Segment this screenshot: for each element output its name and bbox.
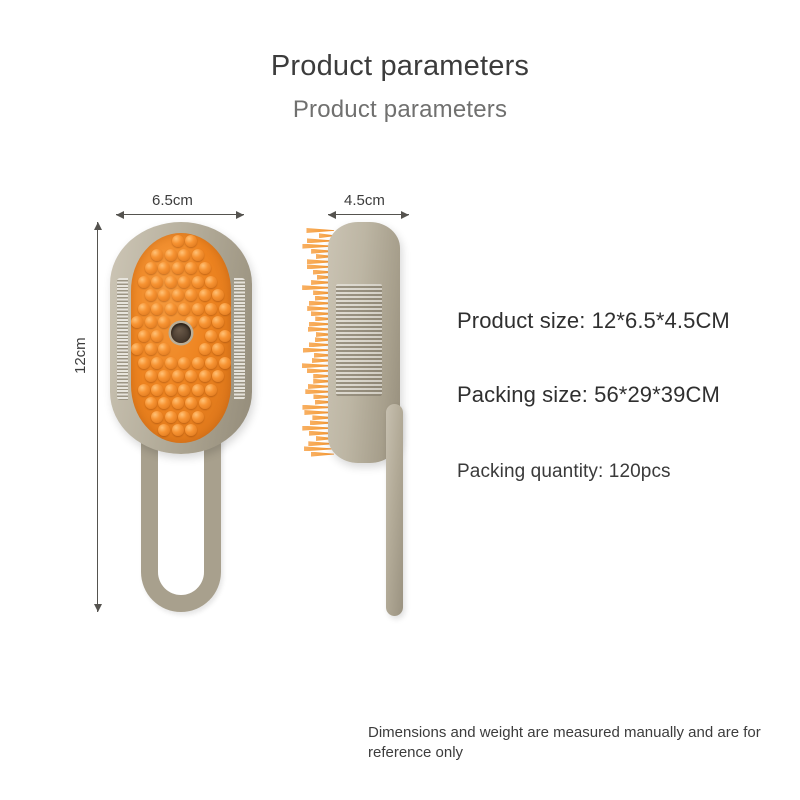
page-subtitle: Product parameters — [0, 96, 800, 124]
dimension-label-height: 12cm — [72, 337, 89, 374]
dimension-arrow-height — [97, 222, 98, 612]
bristle-nub — [138, 276, 150, 288]
bristle-nub — [158, 316, 170, 328]
bristle-nub — [192, 411, 204, 423]
footer-disclaimer: Dimensions and weight are measured manua… — [368, 723, 768, 764]
front-brush-body — [110, 222, 252, 454]
bristle-nub — [138, 330, 150, 342]
side-comb-ridges — [336, 284, 382, 396]
product-front-view — [110, 222, 252, 612]
spec-packing-quantity: Packing quantity: 120pcs — [457, 461, 671, 483]
bristle-nub — [158, 343, 170, 355]
bristle-nub — [131, 316, 143, 328]
spec-packing-size: Packing size: 56*29*39CM — [457, 382, 720, 408]
bristle-nub — [199, 289, 211, 301]
bristle-nub — [205, 330, 217, 342]
bristle-nub — [165, 249, 177, 261]
bristle-nub — [185, 370, 197, 382]
bristle-nub — [185, 262, 197, 274]
bristle-nub — [192, 357, 204, 369]
bristle-nub — [165, 276, 177, 288]
bristle-nub — [151, 384, 163, 396]
bristle-nub — [185, 289, 197, 301]
bristle-nub — [219, 330, 231, 342]
bristle-nub — [145, 397, 157, 409]
bristle-nub — [145, 343, 157, 355]
dimension-arrow-width-front — [116, 214, 244, 215]
bristle-nub — [172, 289, 184, 301]
bristle-nub — [192, 303, 204, 315]
bristle-nub — [165, 411, 177, 423]
bristle-nub — [212, 289, 224, 301]
bristle-nub — [151, 276, 163, 288]
bristle-nub — [178, 249, 190, 261]
bristle-nub — [212, 343, 224, 355]
bristle-nub — [205, 384, 217, 396]
bristle-nub — [138, 303, 150, 315]
bristle-nub — [158, 397, 170, 409]
bristle-nub — [151, 411, 163, 423]
bristle-nub — [165, 384, 177, 396]
bristle-nub — [151, 357, 163, 369]
bristle-nub — [151, 249, 163, 261]
side-handle-bar — [386, 404, 403, 616]
bristle-nub — [151, 330, 163, 342]
bristle-nub — [178, 303, 190, 315]
bristle-nub — [199, 343, 211, 355]
bristle-nub — [212, 316, 224, 328]
bristle-nub — [172, 424, 184, 436]
bristle-nub — [205, 303, 217, 315]
bristle-nub — [178, 411, 190, 423]
bristle-nub — [172, 262, 184, 274]
bristle-nub — [178, 357, 190, 369]
page-title: Product parameters — [0, 50, 800, 83]
bristle-nub — [192, 249, 204, 261]
product-parameters-page: Product parameters Product parameters 6.… — [0, 0, 800, 800]
dimension-label-width-front: 6.5cm — [152, 192, 193, 209]
bristle-nub — [185, 397, 197, 409]
bristle-nub — [172, 397, 184, 409]
bristle — [306, 228, 334, 233]
bristle-nub — [138, 384, 150, 396]
bristle-nub — [172, 370, 184, 382]
bristle-nub — [199, 397, 211, 409]
bristle-nub — [205, 276, 217, 288]
bristle-nub — [138, 357, 150, 369]
bristle-nub — [178, 276, 190, 288]
spec-product-size: Product size: 12*6.5*4.5CM — [457, 308, 730, 334]
bristle-nub — [158, 370, 170, 382]
bristle-nub — [158, 289, 170, 301]
bristle-nub — [185, 235, 197, 247]
bristle — [311, 452, 334, 457]
bristle-nub — [158, 424, 170, 436]
comb-teeth-left — [117, 278, 128, 400]
bristle-nub — [145, 316, 157, 328]
bristle-nub — [219, 303, 231, 315]
bristle-nub — [199, 370, 211, 382]
bristle-nub — [199, 316, 211, 328]
bristle-nub — [145, 262, 157, 274]
bristle-nub — [145, 370, 157, 382]
bristle-nub — [192, 276, 204, 288]
bristle-nub — [151, 303, 163, 315]
bristle-nub — [172, 235, 184, 247]
bristle-nub — [165, 303, 177, 315]
bristle-nub — [205, 357, 217, 369]
bristle-nub — [165, 357, 177, 369]
bristle-nub — [145, 289, 157, 301]
bristle-nub — [158, 262, 170, 274]
bristle-nub — [199, 262, 211, 274]
bristle-nub — [178, 384, 190, 396]
comb-teeth-right — [234, 278, 245, 400]
bristle-nub — [131, 343, 143, 355]
bristle-nub — [219, 357, 231, 369]
dimension-label-width-side: 4.5cm — [344, 192, 385, 209]
center-hole — [171, 323, 191, 343]
product-side-view — [290, 222, 435, 622]
bristle-nub — [185, 424, 197, 436]
bristle-nub — [192, 384, 204, 396]
bristle-nub — [212, 370, 224, 382]
dimension-arrow-width-side — [328, 214, 409, 215]
